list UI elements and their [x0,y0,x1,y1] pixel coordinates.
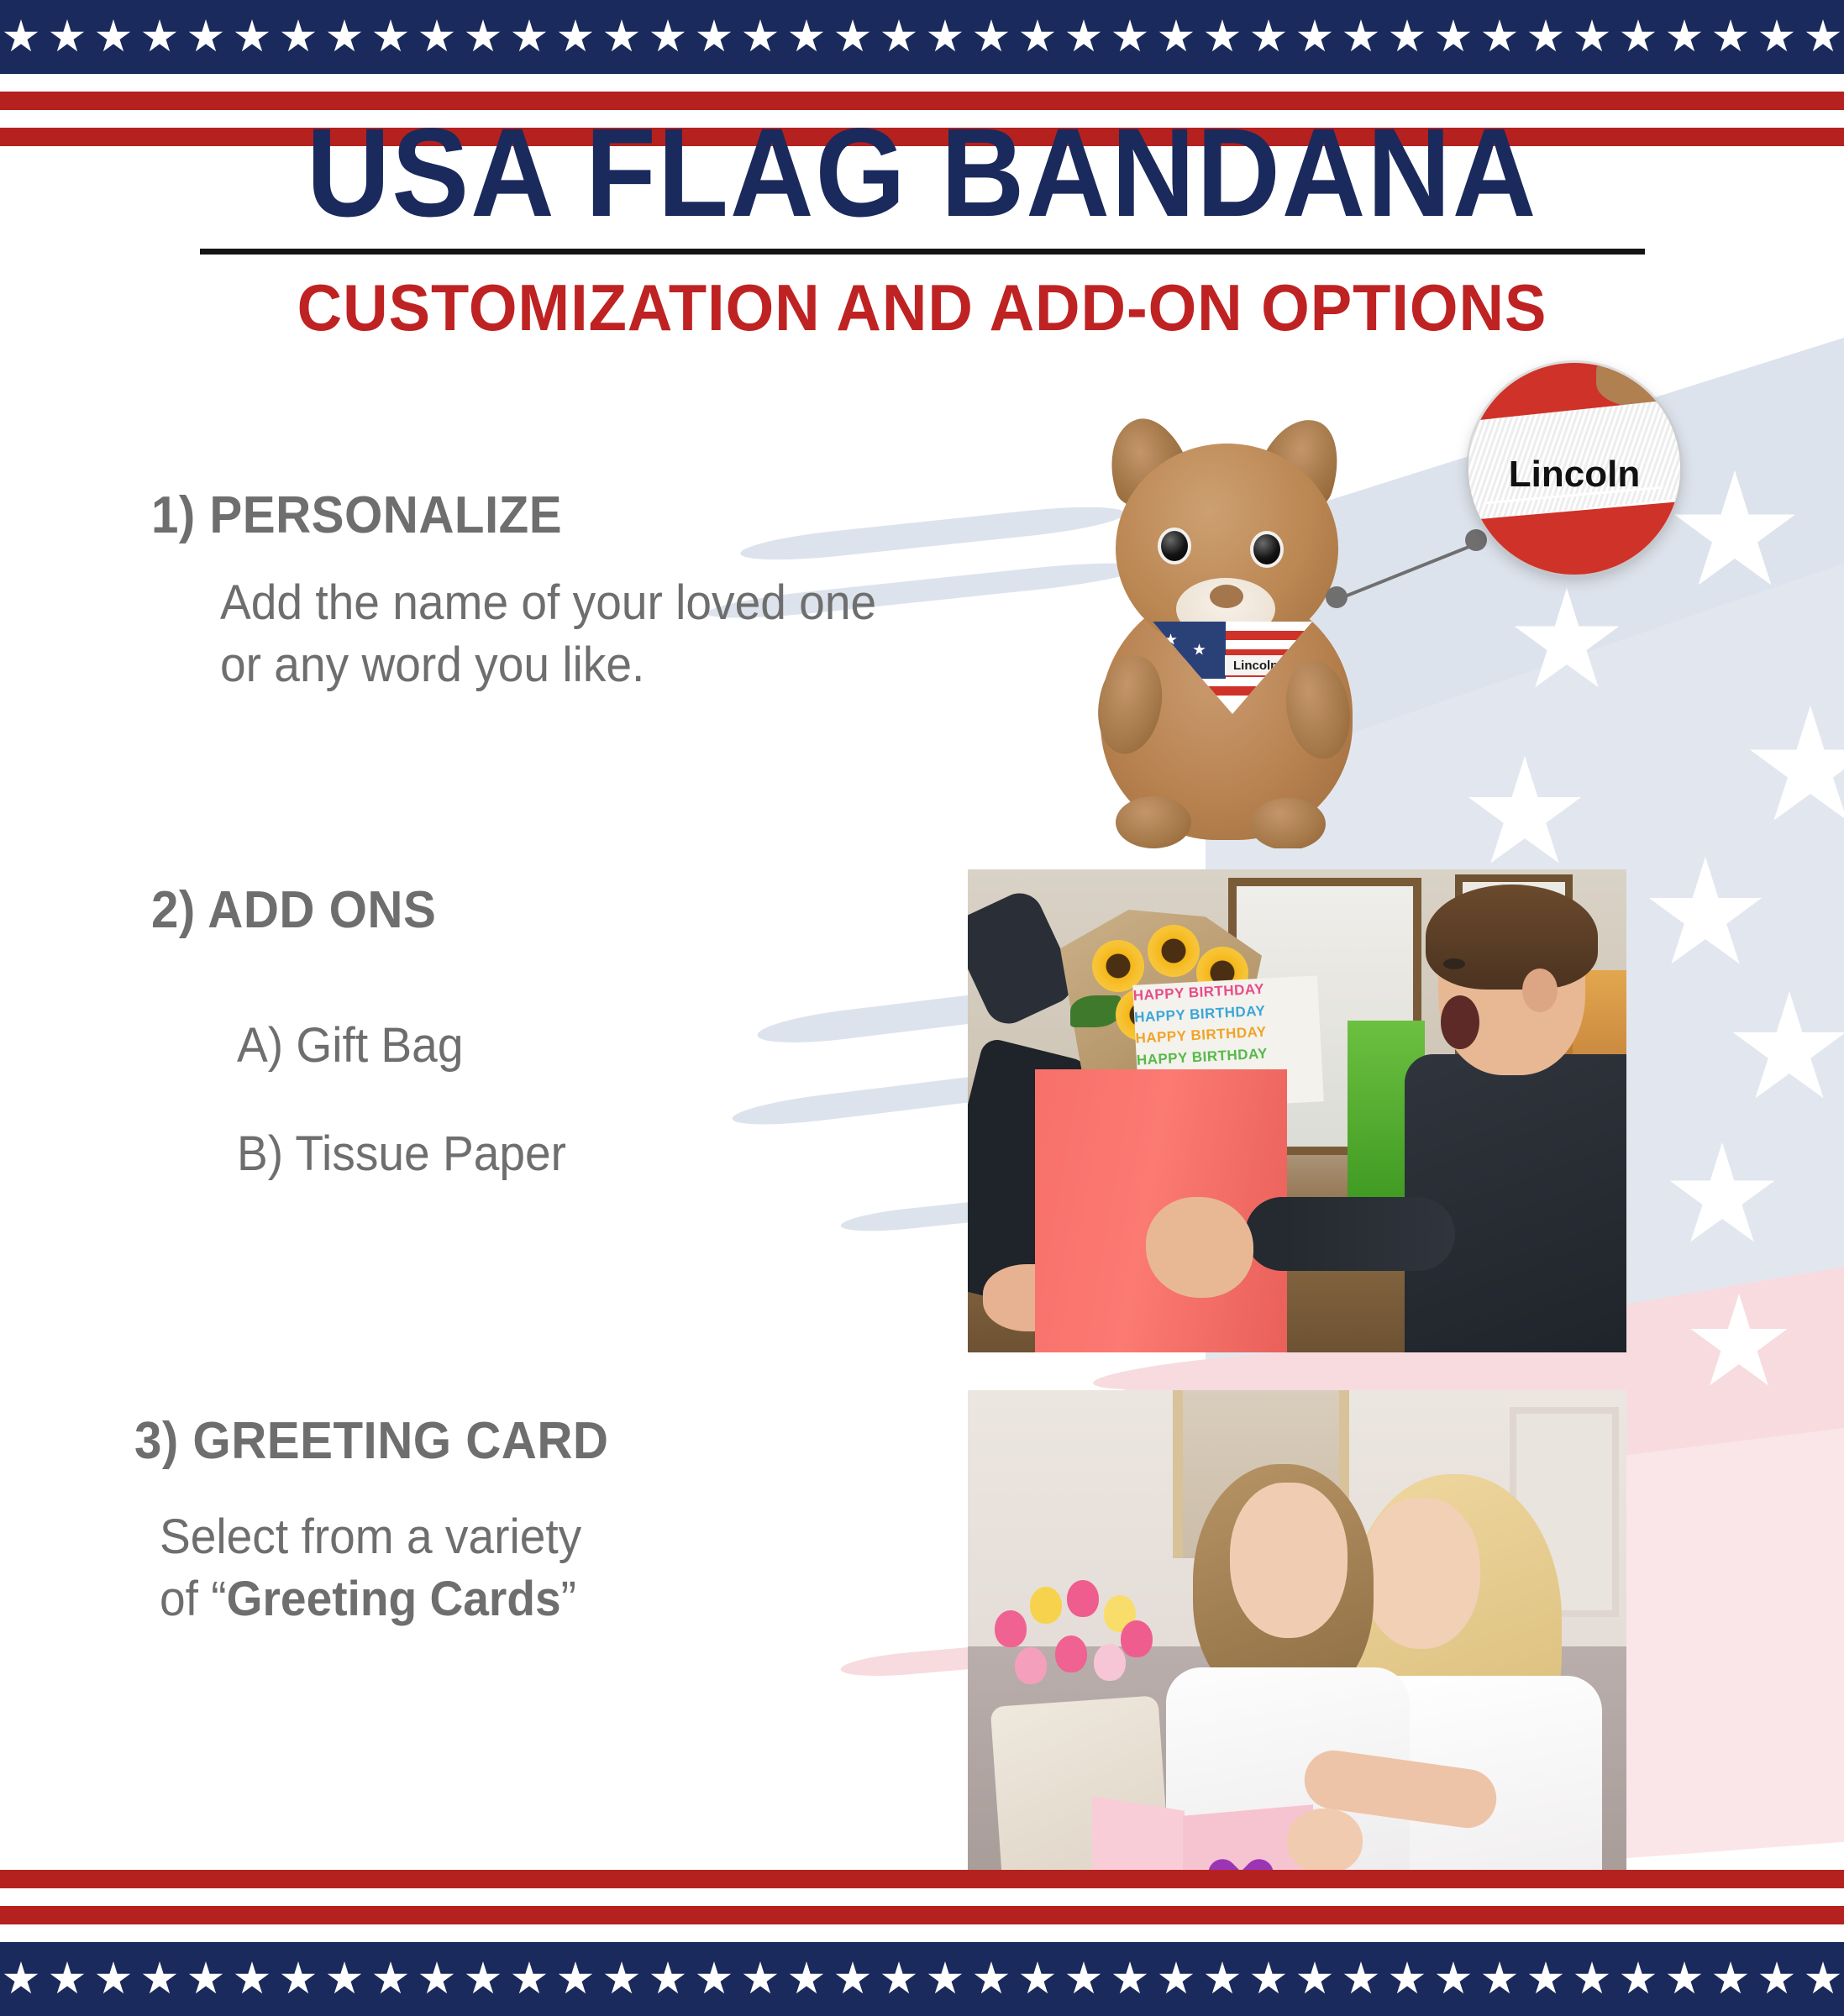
boy-arm [1245,1197,1455,1271]
star-icon [696,1961,732,1997]
bandana-star-2 [1193,643,1206,656]
star-icon [650,19,686,55]
section-personalize: 1) PERSONALIZE Add the name of your love… [151,486,911,696]
add-on-item-tissue-paper: B) Tissue Paper [237,1126,566,1182]
sunflower-2 [1148,925,1200,977]
magnifier-name-text: Lincoln [1468,454,1680,496]
star-icon [1574,1961,1610,1997]
star-icon [1805,19,1841,55]
plush-eye-left [1158,528,1191,564]
star-icon [3,1961,39,1997]
star-icon [1436,1961,1471,1997]
star-icon [1205,19,1240,55]
star-icon [881,19,917,55]
star-icon [1759,19,1794,55]
star-icon [373,1961,408,1997]
watermark-star-8 [1668,1142,1777,1252]
star-icon [188,19,223,55]
star-icon [1066,1961,1101,1997]
star-icon [1297,1961,1332,1997]
star-icon [1805,1961,1841,1997]
star-icon [927,1961,963,1997]
watermark-star-1 [1512,588,1621,697]
watermark-star-7 [1731,991,1844,1109]
star-icon [1621,1961,1656,1997]
top-stars-bar [0,0,1844,74]
star-icon [3,19,39,55]
section-add-ons-heading: 2) ADD ONS [151,880,558,940]
tulip-8 [1121,1620,1153,1657]
star-icon [465,1961,501,1997]
star-icon [96,19,131,55]
star-icon [512,19,547,55]
star-icon [188,1961,223,1997]
star-icon [373,19,408,55]
star-icon [1528,1961,1563,1997]
star-icon [327,1961,362,1997]
greeting-card-emphasis: Greeting Cards [227,1572,561,1626]
plush-foot-left [1116,796,1191,848]
star-icon [650,1961,686,1997]
star-icon [974,1961,1009,1997]
star-icon [789,1961,824,1997]
star-icon [789,19,824,55]
section-greeting-card-heading: 3) GREETING CARD [134,1411,608,1471]
bottom-flag-border [0,1870,1844,2016]
star-icon [234,19,270,55]
bottom-stars-row [0,1961,1844,1997]
star-icon [743,19,778,55]
star-icon [1066,19,1101,55]
page-subtitle: CUSTOMIZATION AND ADD-ON OPTIONS [46,270,1798,346]
girl-hand [1287,1809,1363,1874]
star-icon [142,1961,177,1997]
star-icon [604,19,639,55]
plush-foot-right [1250,798,1326,848]
star-icon [1482,1961,1517,1997]
top-white-gap-1 [0,74,1844,92]
top-stars-row [0,19,1844,55]
star-icon [743,1961,778,1997]
section-greeting-card-line-1: Select from a variety [160,1506,615,1568]
star-icon [881,1961,917,1997]
star-icon [1436,19,1471,55]
boy-hand [1146,1197,1253,1298]
star-icon [142,19,177,55]
star-icon [419,19,454,55]
star-icon [419,1961,454,1997]
add-on-item-gift-bag: A) Gift Bag [237,1017,566,1074]
watermark-star-4 [1466,756,1584,874]
section-greeting-card: 3) GREETING CARD Select from a variety o… [134,1411,638,1630]
watermark-star-2 [1672,470,1798,596]
plush-nose [1210,585,1243,608]
star-icon [1759,1961,1794,1997]
star-icon [1390,19,1425,55]
tulip-7 [1094,1644,1126,1681]
plush-toy-photo: Lincoln [1050,378,1403,848]
star-icon [974,19,1009,55]
title-divider [200,249,1645,255]
star-icon [512,1961,547,1997]
tulip-3 [1067,1580,1099,1617]
page-title: USA FLAG BANDANA [74,109,1770,235]
star-icon [558,1961,593,1997]
greeting-card-quote-open: of “ [160,1572,227,1626]
star-icon [281,19,316,55]
section-greeting-card-line-2: of “Greeting Cards” [160,1568,615,1630]
mother-face [1363,1498,1480,1649]
star-icon [1390,1961,1425,1997]
star-icon [234,1961,270,1997]
plush-eye-right [1250,531,1284,568]
star-icon [1713,1961,1748,1997]
greeting-card-quote-close: ” [561,1572,576,1626]
tulip-2 [1030,1587,1062,1624]
star-icon [1251,19,1286,55]
star-icon [50,19,85,55]
star-icon [1020,19,1055,55]
star-icon [1251,1961,1286,1997]
star-icon [1112,19,1148,55]
bottom-stars-bar [0,1942,1844,2016]
boy-hair [1426,885,1598,990]
star-icon [835,19,870,55]
star-icon [1020,1961,1055,1997]
star-icon [1158,1961,1194,1997]
bottom-white-gap-1 [0,1888,1844,1906]
watermark-star-9 [1689,1294,1789,1394]
gift-bag-photo: HAPPY BIRTHDAY HAPPY BIRTHDAY HAPPY BIRT… [968,869,1626,1352]
bottom-red-stripe-1 [0,1870,1844,1888]
star-icon [327,19,362,55]
star-icon [96,1961,131,1997]
boy-eye [1443,958,1465,969]
boy-open-mouth [1441,995,1479,1049]
watermark-star-3 [1747,706,1844,832]
boy-ear [1522,969,1558,1012]
star-icon [604,1961,639,1997]
tulip-5 [1015,1647,1047,1684]
girl-face [1230,1483,1348,1638]
magnifier-bubble: Lincoln [1468,363,1680,575]
star-icon [696,19,732,55]
bottom-red-stripe-2 [0,1906,1844,1924]
star-icon [835,1961,870,1997]
star-icon [1112,1961,1148,1997]
section-personalize-line-2: or any word you like. [220,634,876,696]
bottom-white-gap-2 [0,1924,1844,1942]
star-icon [1343,1961,1379,1997]
star-icon [1667,19,1702,55]
star-icon [1574,19,1610,55]
bouquet-leaf-1 [1070,995,1121,1027]
star-icon [558,19,593,55]
star-icon [1158,19,1194,55]
greeting-card-photo [968,1390,1626,1898]
star-icon [1528,19,1563,55]
section-personalize-heading: 1) PERSONALIZE [151,486,865,545]
section-personalize-line-1: Add the name of your loved one [220,572,876,634]
tulip-6 [1055,1635,1087,1672]
star-icon [1205,1961,1240,1997]
star-icon [1297,19,1332,55]
section-add-ons: 2) ADD ONS A) Gift Bag B) Tissue Paper [151,880,584,1182]
leader-dot-source [1326,586,1348,608]
star-icon [1482,19,1517,55]
star-icon [1713,19,1748,55]
star-icon [927,19,963,55]
header-block: USA FLAG BANDANA CUSTOMIZATION AND ADD-O… [0,109,1844,346]
star-icon [1667,1961,1702,1997]
tulip-1 [995,1610,1027,1647]
star-icon [1621,19,1656,55]
star-icon [50,1961,85,1997]
magnifier-leader-line [1332,538,1483,605]
watermark-star-5 [1647,857,1764,974]
star-icon [1343,19,1379,55]
tulip-bouquet [986,1567,1167,1718]
star-icon [465,19,501,55]
star-icon [281,1961,316,1997]
